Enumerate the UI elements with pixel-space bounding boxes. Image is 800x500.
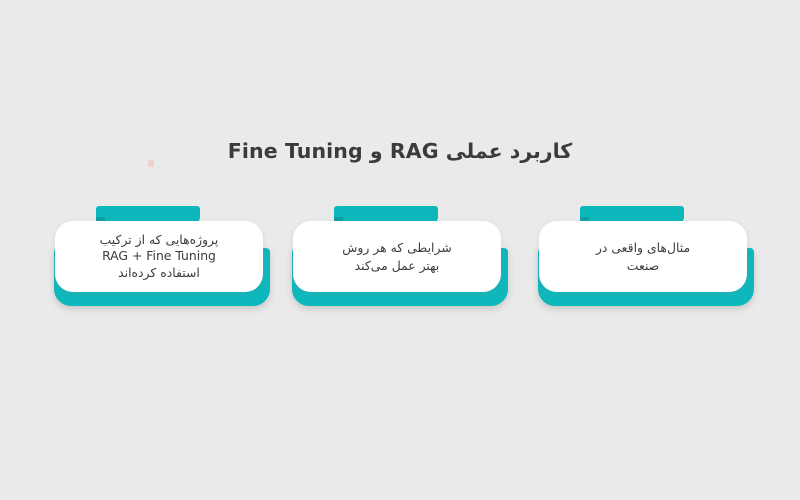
card-row: پروژه‌هایی که از ترکیب RAG + Fine Tuning… [0,0,800,500]
card-text-block: پروژه‌هایی که از ترکیب RAG + Fine Tuning… [55,221,263,292]
card-when-each-works[interactable]: شرایطی که هر روش بهتر عمل می‌کند [292,204,508,308]
card-white-panel: شرایطی که هر روش بهتر عمل می‌کند [293,221,501,292]
card-text-line: پروژه‌هایی که از ترکیب [100,232,219,249]
slide-canvas: کاربرد عملی RAG و Fine Tuning پروژه‌هایی… [0,0,800,500]
card-white-panel: مثال‌های واقعی در صنعت [539,221,747,292]
card-white-panel: پروژه‌هایی که از ترکیب RAG + Fine Tuning… [55,221,263,292]
card-combined-projects[interactable]: پروژه‌هایی که از ترکیب RAG + Fine Tuning… [54,204,270,308]
card-text-line: مثال‌های واقعی در [596,239,690,257]
card-text-block: شرایطی که هر روش بهتر عمل می‌کند [293,221,501,292]
card-industry-examples[interactable]: مثال‌های واقعی در صنعت [538,204,754,308]
card-text-line: RAG + Fine Tuning [100,248,219,265]
card-text-line: استفاده کرده‌اند [100,265,219,282]
card-text-line: صنعت [596,257,690,275]
card-text-block: مثال‌های واقعی در صنعت [539,221,747,292]
card-text-line: شرایطی که هر روش [342,239,451,257]
card-text-line: بهتر عمل می‌کند [342,257,451,275]
